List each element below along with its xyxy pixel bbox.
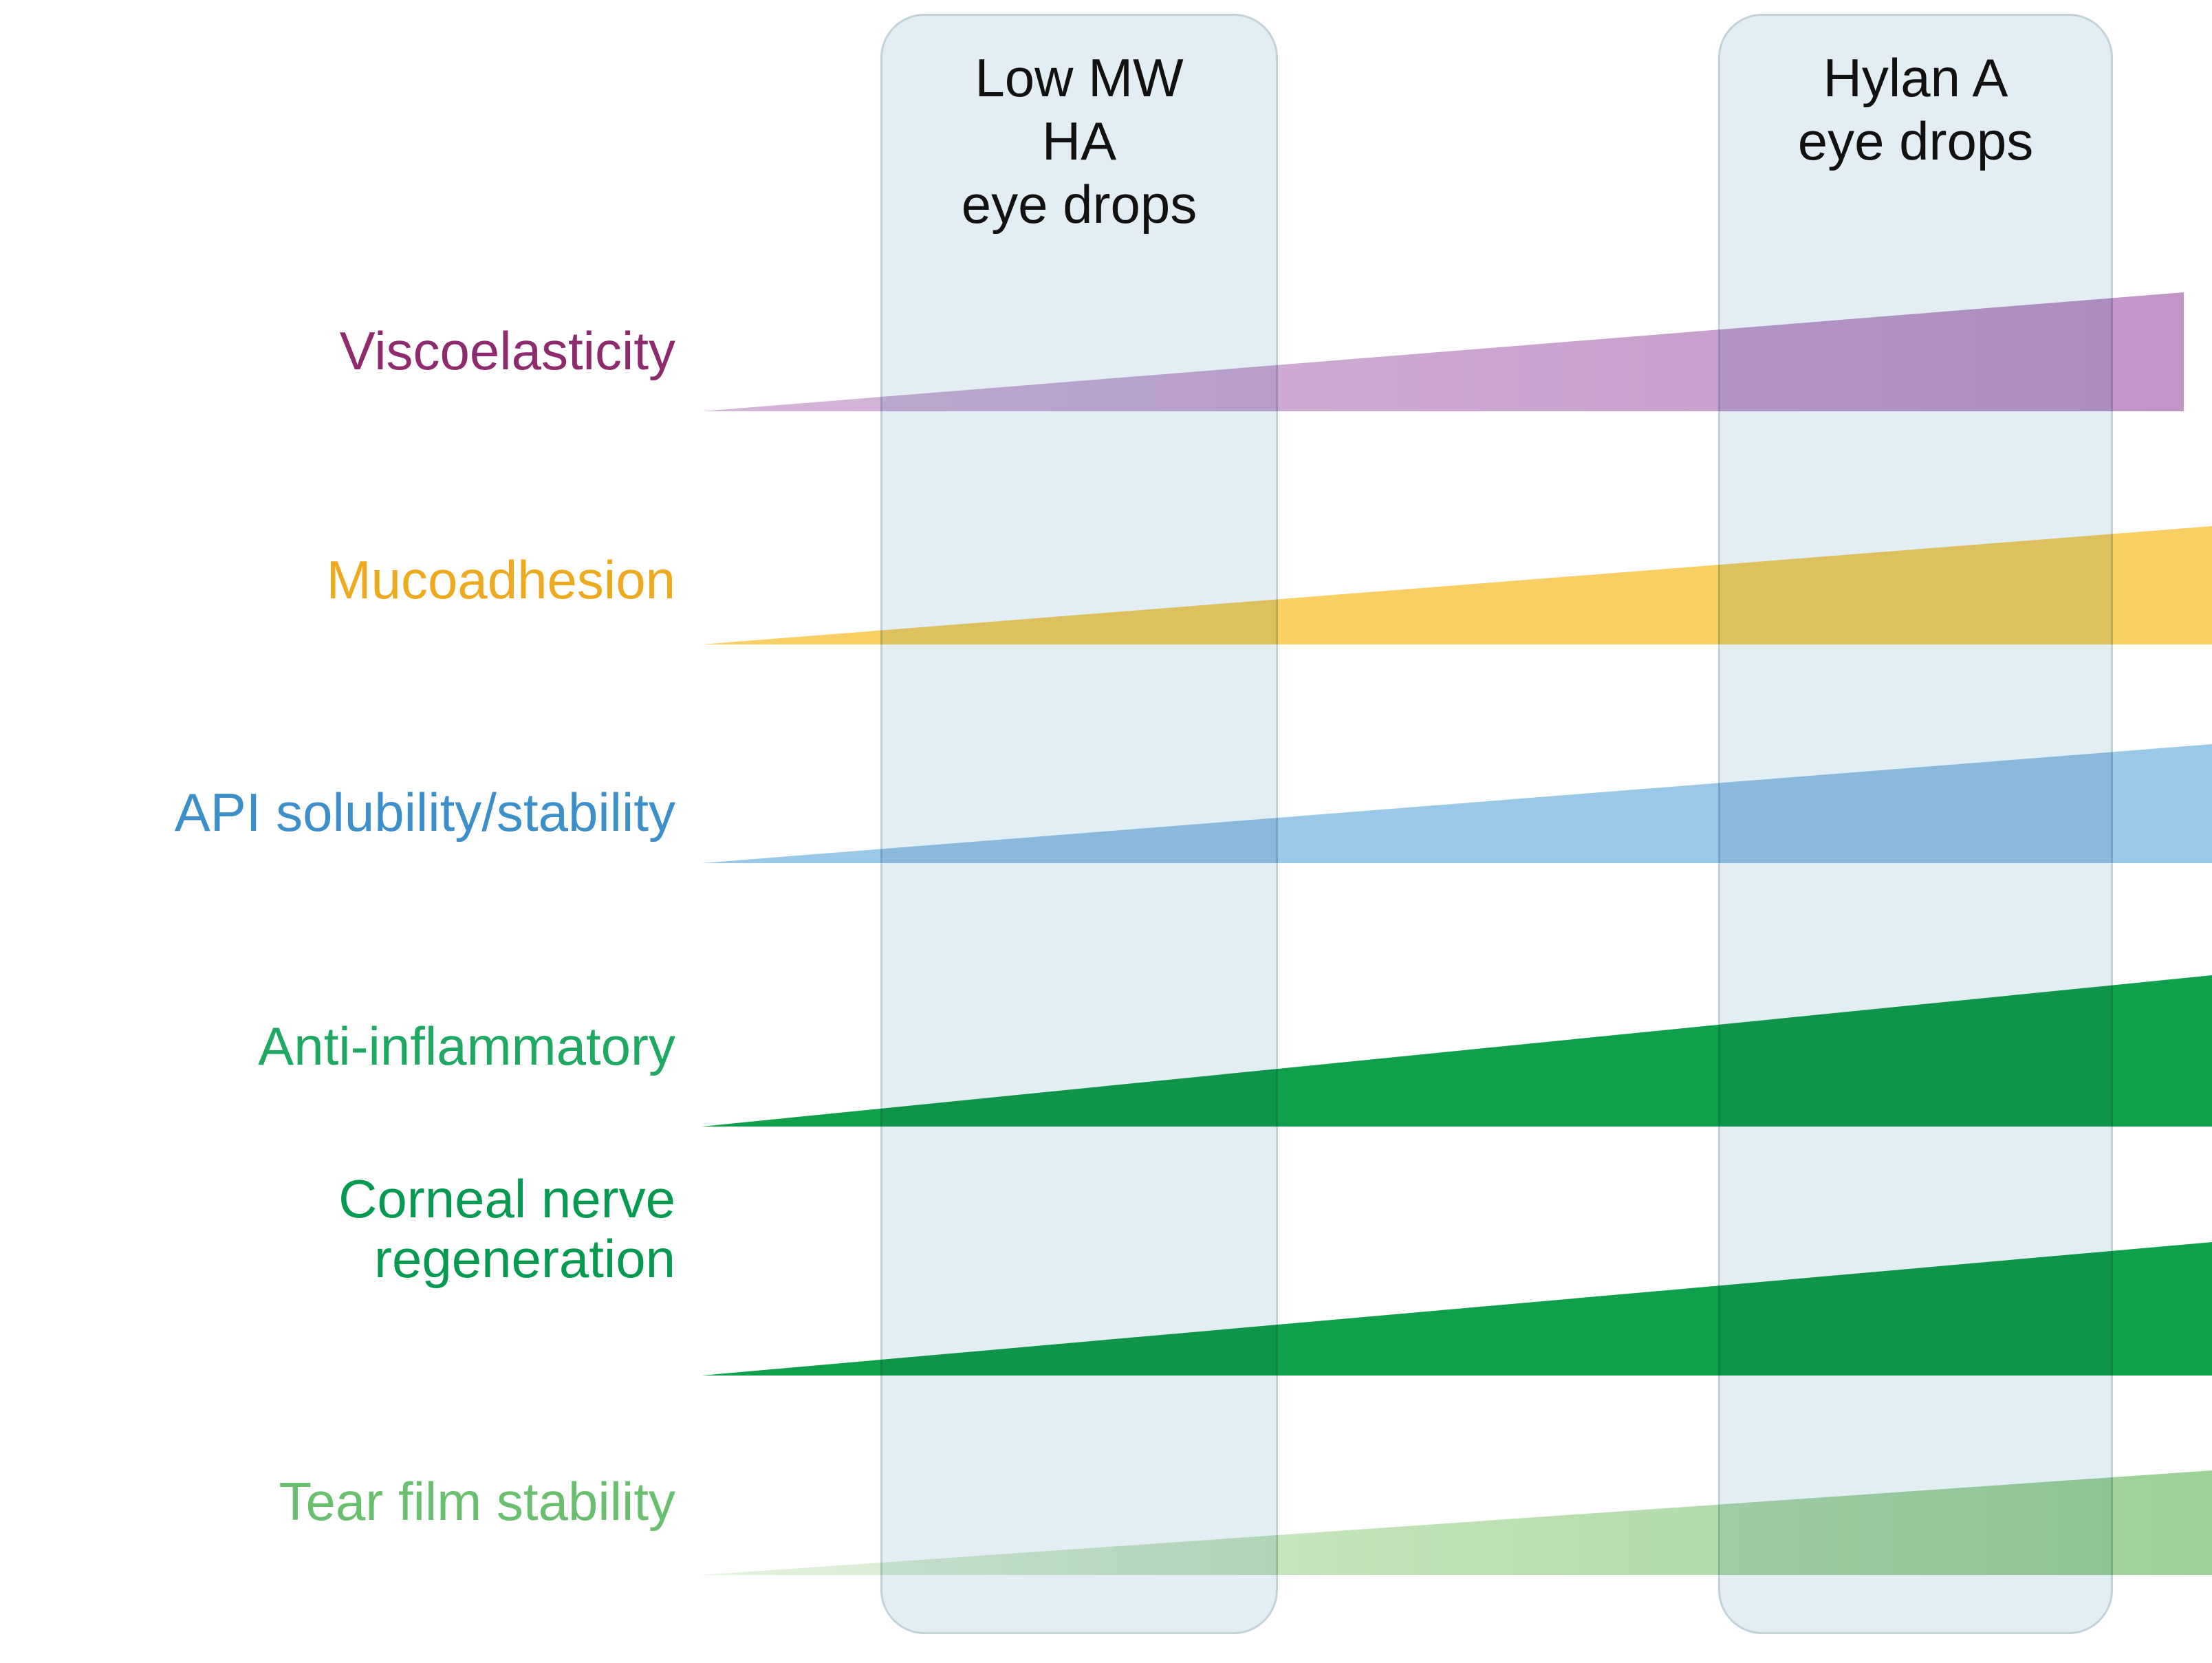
row-label-anti-inflammatory: Anti-inflammatory [0,1017,675,1076]
row-label-corneal-nerve-regeneration: Corneal nerve regeneration [0,1169,675,1290]
column-panel-hylan-a[interactable]: Hylan A eye drops [1718,14,2113,1634]
column-panel-low-mw-ha[interactable]: Low MW HA eye drops [880,14,1278,1634]
column-title-hylan-a: Hylan A eye drops [1720,46,2111,173]
column-title-low-mw-ha: Low MW HA eye drops [882,46,1276,236]
row-label-api-solubility-stability: API solubility/stability [0,783,675,843]
row-label-tear-film-stability: Tear film stability [0,1472,675,1532]
figure-canvas: Low MW HA eye drops Hylan A eye drops Vi… [0,0,2212,1663]
row-label-viscoelasticity: Viscoelasticity [0,321,675,381]
row-label-mucoadhesion: Mucoadhesion [0,550,675,610]
